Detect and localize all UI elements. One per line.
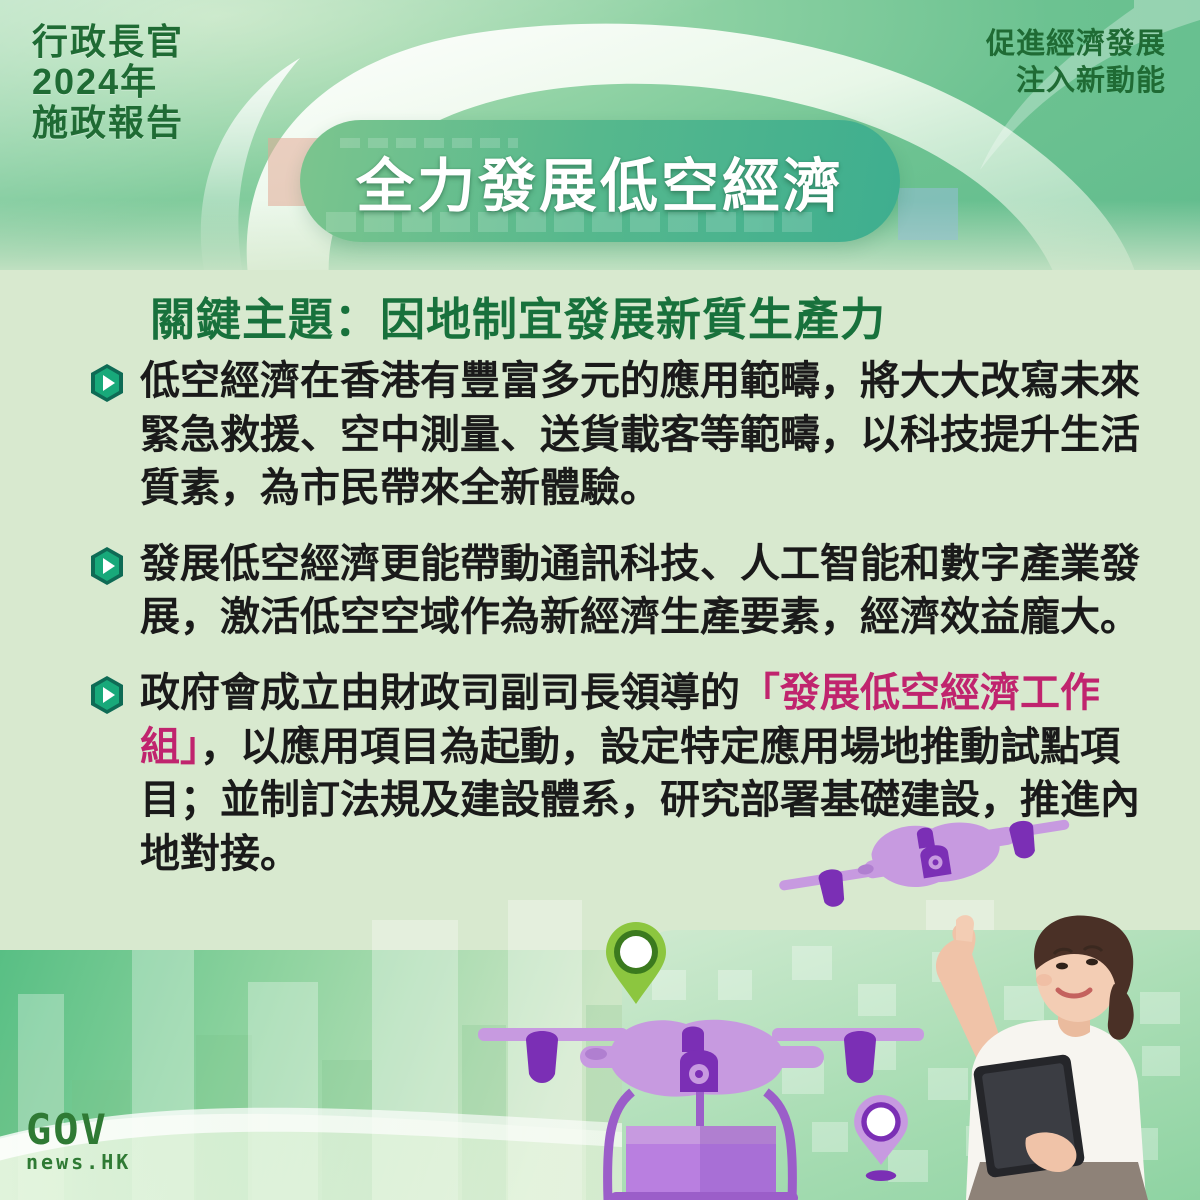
logo-secondary: news.HK (26, 1150, 131, 1174)
list-item-text: 發展低空經濟更能帶動通訊科技、人工智能和數字產業發展，激活低空空域作為新經濟生產… (140, 538, 1148, 645)
location-pin-icon (600, 920, 672, 1006)
page-title: 全力發展低空經濟 (300, 120, 900, 242)
list-item: 政府會成立由財政司副司長領導的「發展低空經濟工作組」，以應用項目為起動，設定特定… (88, 667, 1148, 881)
infographic-poster: 行政長官 2024年 施政報告 促進經濟發展 注入新動能 全力發展低空經濟 關鍵… (0, 0, 1200, 1200)
key-theme-subtitle: 關鍵主題：因地制宜發展新質生產力 (150, 283, 886, 348)
decor-swatch-blue (898, 188, 958, 240)
tagline-line-2: 注入新動能 (986, 63, 1166, 100)
report-kicker: 行政長官 2024年 施政報告 (32, 22, 262, 143)
header-tagline: 促進經濟發展 注入新動能 (986, 26, 1166, 100)
play-hex-icon (88, 546, 126, 586)
kicker-line-2: 2024年 (32, 62, 262, 102)
list-item-tail: ，以應用項目為起動，設定特定應用場地推動試點項目；並制訂法規及建設體系，研究部署… (140, 725, 1140, 876)
list-item-text: 低空經濟在香港有豐富多元的應用範疇，將大大改寫未來緊急救援、空中測量、送貨載客等… (140, 355, 1148, 516)
list-item: 低空經濟在香港有豐富多元的應用範疇，將大大改寫未來緊急救援、空中測量、送貨載客等… (88, 355, 1148, 516)
tagline-line-1: 促進經濟發展 (986, 26, 1166, 63)
woman-with-tablet-photo (876, 910, 1200, 1200)
gov-news-logo[interactable]: GOV news.HK (26, 1110, 131, 1174)
play-hex-icon (88, 675, 126, 715)
bullet-list: 低空經濟在香港有豐富多元的應用範疇，將大大改寫未來緊急救援、空中測量、送貨載客等… (88, 355, 1148, 903)
play-hex-icon (88, 363, 126, 403)
kicker-line-1: 行政長官 (32, 22, 262, 62)
kicker-line-3: 施政報告 (32, 103, 262, 143)
list-item-lead: 政府會成立由財政司副司長領導的 (140, 671, 740, 715)
list-item-text: 政府會成立由財政司副司長領導的「發展低空經濟工作組」，以應用項目為起動，設定特定… (140, 667, 1148, 881)
logo-primary: GOV (26, 1110, 131, 1150)
title-banner: 全力發展低空經濟 (300, 120, 900, 242)
list-item: 發展低空經濟更能帶動通訊科技、人工智能和數字產業發展，激活低空空域作為新經濟生產… (88, 538, 1148, 645)
